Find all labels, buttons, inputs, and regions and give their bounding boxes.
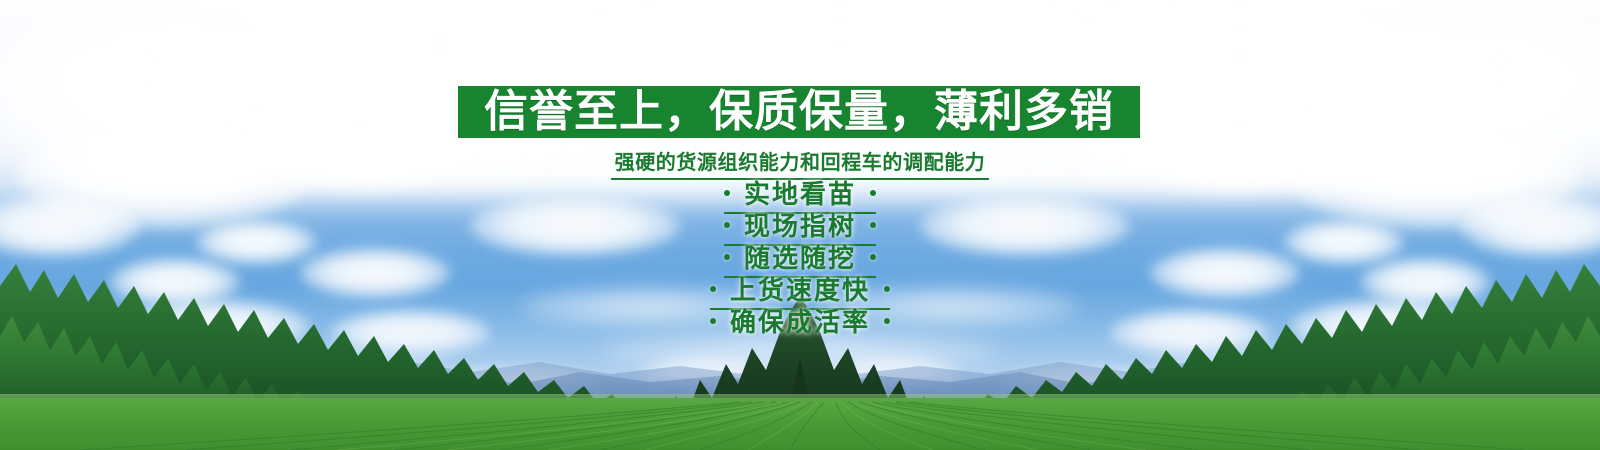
bullet-dot-icon (884, 286, 890, 292)
feature-label: 确保成活率 (730, 302, 870, 339)
bullet-dot-icon (710, 286, 716, 292)
feature-list: 实地看苗 现场指树 随选随挖 (0, 178, 1600, 338)
bullet-dot-icon (870, 190, 876, 196)
feature-item: 确保成活率 (0, 306, 1600, 338)
bullet-dot-icon (710, 318, 716, 324)
banner-content: 信誉至上，保质保量，薄利多销 强硬的货源组织能力和回程车的调配能力 实地看苗 现… (0, 0, 1600, 450)
bullet-dot-icon (884, 318, 890, 324)
promo-banner: 信誉至上，保质保量，薄利多销 强硬的货源组织能力和回程车的调配能力 实地看苗 现… (0, 0, 1600, 450)
bullet-dot-icon (870, 222, 876, 228)
headline-text: 信誉至上，保质保量，薄利多销 (484, 90, 1114, 134)
bullet-dot-icon (870, 254, 876, 260)
bullet-dot-icon (724, 222, 730, 228)
bullet-dot-icon (724, 254, 730, 260)
bullet-dot-icon (724, 190, 730, 196)
headline-bar: 信誉至上，保质保量，薄利多销 (458, 86, 1140, 138)
